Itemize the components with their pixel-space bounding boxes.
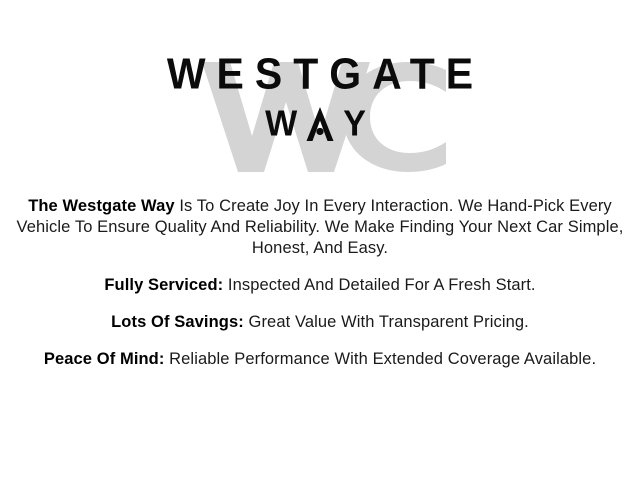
promo-paragraph-lead: Lots Of Savings: — [111, 313, 244, 331]
brand-name-secondary-row: WY — [0, 104, 640, 144]
brand-logo: WESTGATE WY — [0, 48, 640, 184]
promo-paragraph-lead: Fully Serviced: — [104, 276, 223, 294]
promo-paragraph-body: Reliable Performance With Extended Cover… — [164, 350, 596, 368]
promo-paragraph: Peace Of Mind: Reliable Performance With… — [16, 349, 624, 370]
promo-paragraph: Fully Serviced: Inspected And Detailed F… — [16, 275, 624, 296]
brand-name-primary: WESTGATE — [0, 48, 640, 99]
brand-wordmark: WESTGATE WY — [0, 48, 640, 144]
promo-paragraph: Lots Of Savings: Great Value With Transp… — [16, 312, 624, 333]
promo-paragraph-lead: Peace Of Mind: — [44, 350, 165, 368]
promo-paragraph: The Westgate Way Is To Create Joy In Eve… — [16, 196, 624, 259]
stylised-a-with-dot-icon — [306, 107, 334, 141]
brand-name-secondary-end: Y — [343, 103, 375, 145]
promo-paragraph-body: Inspected And Detailed For A Fresh Start… — [223, 276, 535, 294]
promo-paragraph-body: Great Value With Transparent Pricing. — [244, 313, 529, 331]
promo-copy: The Westgate Way Is To Create Joy In Eve… — [0, 196, 640, 370]
westgate-way-promo-page: WESTGATE WY The Westgate Way Is To Creat… — [0, 0, 640, 480]
promo-paragraph-lead: The Westgate Way — [28, 197, 174, 215]
brand-name-secondary-start: W — [265, 103, 306, 145]
